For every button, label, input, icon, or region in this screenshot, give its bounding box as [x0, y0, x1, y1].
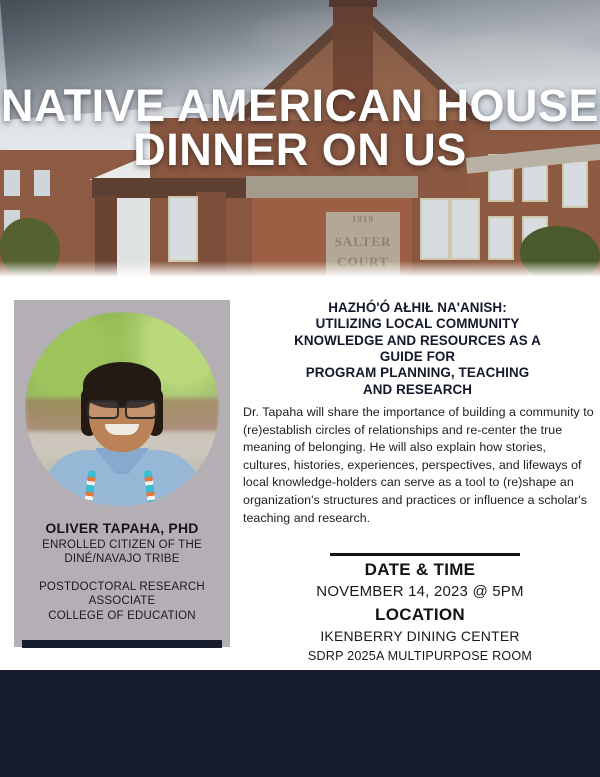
hero-bottom-fade	[0, 261, 600, 277]
divider-line	[330, 553, 520, 556]
speaker-affiliation: ENROLLED CITIZEN OF THE DINÉ/NAVAJO TRIB…	[14, 538, 230, 567]
title-line-1: NATIVE AMERICAN HOUSE	[0, 84, 600, 128]
datetime-value: NOVEMBER 14, 2023 @ 5PM	[240, 583, 600, 600]
role-line-2: ASSOCIATE	[14, 594, 230, 608]
affiliation-line-1: ENROLLED CITIZEN OF THE	[14, 538, 230, 552]
title-line-2: DINNER ON US	[0, 128, 600, 172]
location-heading: LOCATION	[240, 605, 600, 625]
location-line-2: SDRP 2025A MULTIPURPOSE ROOM	[240, 649, 600, 663]
talk-title-line-5: PROGRAM PLANNING, TEACHING	[240, 365, 595, 381]
page-title: NATIVE AMERICAN HOUSE DINNER ON US	[0, 84, 600, 172]
speaker-avatar	[25, 312, 219, 506]
panel-accent-bar	[22, 640, 222, 648]
talk-title-line-6: AND RESEARCH	[240, 382, 595, 398]
talk-title-line-1: HAZHÓ'Ó AŁHIŁ NA'ANISH:	[240, 300, 595, 316]
speaker-role: POSTDOCTORAL RESEARCH ASSOCIATE COLLEGE …	[14, 580, 230, 623]
role-line-1: POSTDOCTORAL RESEARCH	[14, 580, 230, 594]
talk-title-line-4: GUIDE FOR	[240, 349, 595, 365]
location-line-1: IKENBERRY DINING CENTER	[240, 628, 600, 644]
speaker-name: OLIVER TAPAHA, PHD	[14, 520, 230, 536]
talk-description: Dr. Tapaha will share the importance of …	[243, 404, 595, 527]
role-line-3: COLLEGE OF EDUCATION	[14, 609, 230, 623]
talk-title-line-3: KNOWLEDGE AND RESOURCES AS A	[240, 333, 595, 349]
footer-bar: Student Affairs UNIVERSITY OF ILLINOIS U…	[0, 670, 600, 777]
affiliation-line-2: DINÉ/NAVAJO TRIBE	[14, 552, 230, 566]
event-poster: 1919 SALTER COURT NATIVE AMERICAN HOUSE …	[0, 0, 600, 777]
datetime-heading: DATE & TIME	[240, 560, 600, 580]
glasses-icon	[87, 400, 157, 416]
hero-banner: 1919 SALTER COURT NATIVE AMERICAN HOUSE …	[0, 0, 600, 277]
talk-title-line-2: UTILIZING LOCAL COMMUNITY	[240, 316, 595, 332]
talk-title: HAZHÓ'Ó AŁHIŁ NA'ANISH: UTILIZING LOCAL …	[240, 300, 595, 398]
